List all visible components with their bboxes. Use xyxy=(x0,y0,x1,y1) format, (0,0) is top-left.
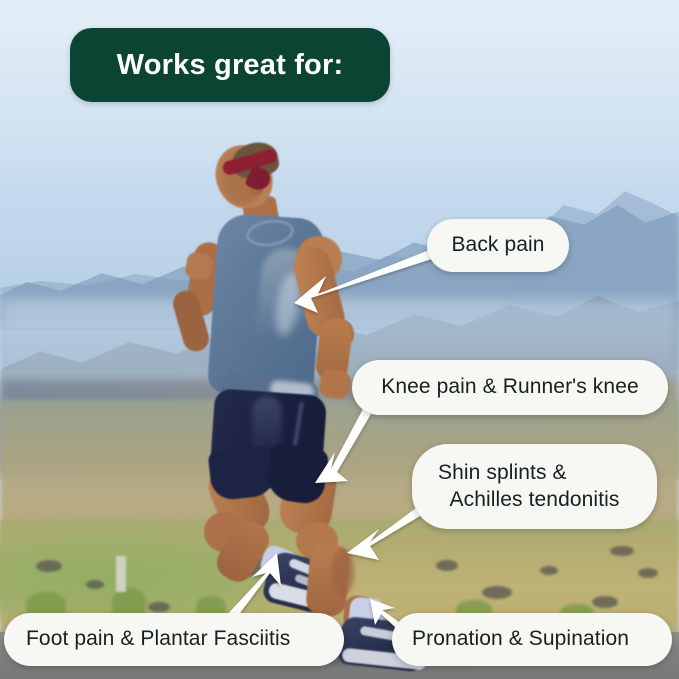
fist xyxy=(318,368,352,401)
callout-foot-pain-label: Foot pain & Plantar Fasciitis xyxy=(26,626,290,653)
callout-shin-achilles[interactable]: Shin splints & Achilles tendonitis xyxy=(412,444,657,529)
callout-pronation-label: Pronation & Supination xyxy=(412,626,629,653)
header-badge: Works great for: xyxy=(70,28,390,102)
header-badge-label: Works great for: xyxy=(117,49,344,82)
front-calf xyxy=(332,548,354,596)
shorts-right-leg xyxy=(264,442,329,506)
callout-knee-pain[interactable]: Knee pain & Runner's knee xyxy=(352,360,668,415)
callout-back-pain[interactable]: Back pain xyxy=(427,219,569,272)
callout-foot-pain[interactable]: Foot pain & Plantar Fasciitis xyxy=(4,613,344,666)
callout-knee-pain-label: Knee pain & Runner's knee xyxy=(381,374,639,401)
callout-shin-achilles-line2: Achilles tendonitis xyxy=(450,487,620,514)
callout-pronation[interactable]: Pronation & Supination xyxy=(392,613,672,666)
callout-shin-achilles-line1: Shin splints & xyxy=(438,460,567,487)
callout-back-pain-label: Back pain xyxy=(451,232,544,259)
promo-image: Works great for: Back pain Knee pain & R… xyxy=(0,0,679,679)
